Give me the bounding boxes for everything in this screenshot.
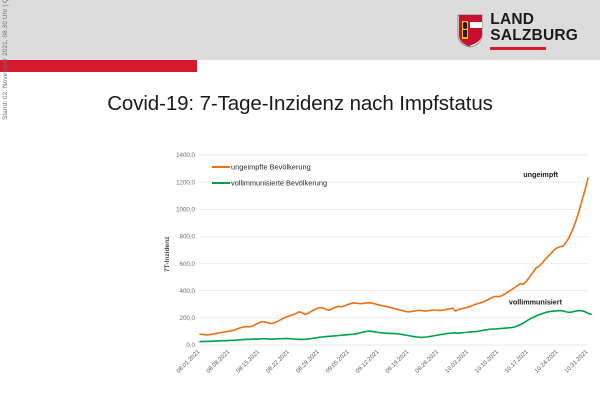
y-axis-tick-label: 400,0 <box>180 288 196 295</box>
series-line <box>200 311 591 342</box>
x-axis-tick-label: 08.08.2021 <box>206 349 232 375</box>
x-axis-tick-label: 09.19.2021 <box>385 349 411 375</box>
x-axis-tick-label: 10.31.2021 <box>564 349 590 375</box>
y-axis-tick-label: 1400,0 <box>176 152 195 159</box>
logo-wordmark: LAND SALZBURG <box>490 12 578 51</box>
x-axis-tick-label: 08.29.2021 <box>295 349 321 375</box>
y-axis-title: 7T-Inzidenz <box>164 236 171 272</box>
page-title: Covid-19: 7-Tage-Inzidenz nach Impfstatu… <box>0 92 600 116</box>
land-salzburg-logo: LAND SALZBURG <box>457 9 578 53</box>
x-axis-tick-label: 10.24.2021 <box>534 349 560 375</box>
y-axis-tick-label: 1200,0 <box>176 179 195 186</box>
y-axis-tick-label: 200,0 <box>180 315 196 322</box>
y-axis-tick-label: 600,0 <box>180 261 196 268</box>
x-axis-tick-label: 08.15.2021 <box>236 349 262 375</box>
header-accent-bar <box>0 60 197 72</box>
x-axis-tick-label: 09.26.2021 <box>415 349 441 375</box>
x-axis-tick-label: 08.01.2021 <box>176 349 202 375</box>
logo-underline <box>490 47 546 51</box>
series-annotation: ungeimpft <box>523 170 558 179</box>
x-axis-tick-label: 10.03.2021 <box>445 349 471 375</box>
logo-line-1: LAND <box>490 12 578 28</box>
y-axis-tick-label: 0,0 <box>186 342 195 349</box>
legend-label: vollimmunisierte Bevölkerung <box>231 179 327 188</box>
slide-root: LAND SALZBURG Stand: 02. November 2021, … <box>0 0 600 400</box>
x-axis-tick-label: 10.17.2021 <box>504 349 530 375</box>
y-axis-tick-label: 800,0 <box>180 234 196 241</box>
legend-label: ungeimpfte Bevölkerung <box>231 163 311 172</box>
salzburg-coat-of-arms-icon <box>457 14 483 48</box>
series-annotation: vollimmunisiert <box>509 297 563 306</box>
incidence-line-chart: 0,0200,0400,0600,0800,01000,01200,01400,… <box>160 145 592 395</box>
x-axis-tick-label: 09.05.2021 <box>325 349 351 375</box>
x-axis-tick-label: 09.12.2021 <box>355 349 381 375</box>
x-axis-tick-label: 10.10.2021 <box>474 349 500 375</box>
logo-line-2: SALZBURG <box>490 28 578 44</box>
y-axis-tick-label: 1000,0 <box>176 206 195 213</box>
chart-canvas: 0,0200,0400,0600,0800,01000,01200,01400,… <box>160 145 592 395</box>
x-axis-tick-label: 08.22.2021 <box>265 349 291 375</box>
series-line <box>200 178 588 335</box>
